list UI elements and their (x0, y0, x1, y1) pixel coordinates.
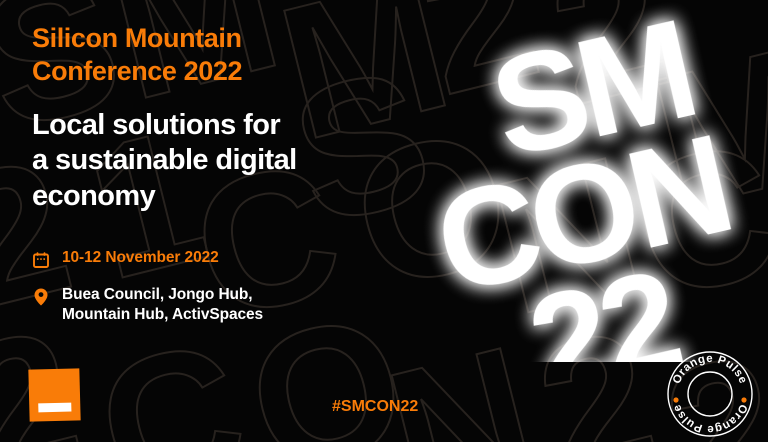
event-location-row: Buea Council, Jongo Hub, Mountain Hub, A… (32, 285, 392, 325)
event-tagline: Local solutions for a sustainable digita… (32, 108, 392, 214)
event-details: 10-12 November 2022 Buea Council, Jongo … (32, 248, 392, 325)
event-hashtag: #SMCON22 (332, 398, 418, 416)
orange-square-logo[interactable] (28, 368, 80, 421)
seal-text-top: Orange Pulse (671, 353, 749, 386)
seal-dot-right (741, 397, 746, 402)
event-date: 10-12 November 2022 (62, 248, 219, 268)
page-title: Silicon Mountain Conference 2022 (32, 22, 392, 88)
event-date-row: 10-12 November 2022 (32, 248, 392, 271)
logo-bar (38, 403, 71, 413)
seal-dot-left (673, 397, 678, 402)
conference-poster: .olt { fill: none; stroke: #2a2420; stro… (0, 0, 768, 442)
event-location: Buea Council, Jongo Hub, Mountain Hub, A… (62, 285, 263, 325)
orange-pulse-seal[interactable]: Orange Pulse Orange Pulse (664, 348, 756, 440)
map-pin-icon (32, 285, 50, 308)
smcon22-logotype: .heroT { font-family: "Liberation Sans",… (408, 0, 768, 362)
seal-text-bottom: Orange Pulse (671, 402, 749, 435)
calendar-icon (32, 248, 50, 271)
poster-content: Silicon Mountain Conference 2022 Local s… (32, 22, 392, 339)
